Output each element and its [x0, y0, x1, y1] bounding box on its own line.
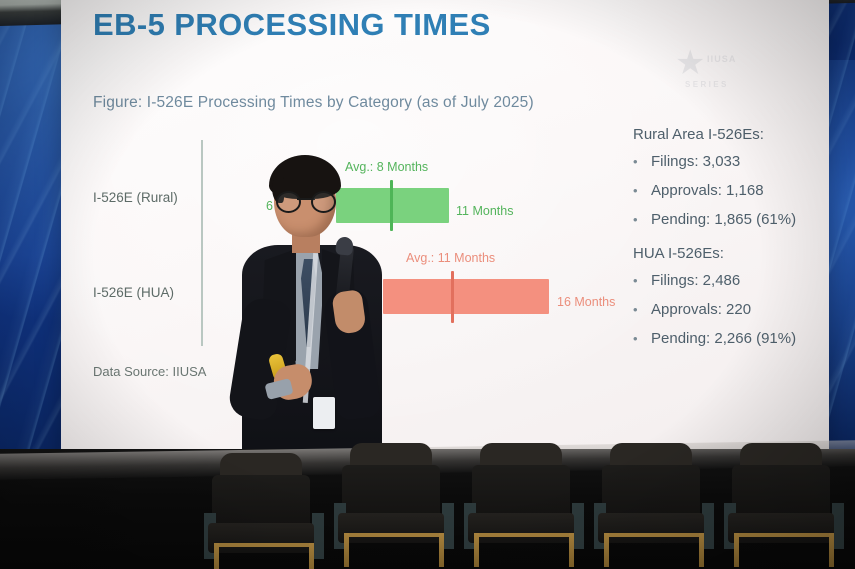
- chart-median-marker-hua: [451, 271, 454, 323]
- processing-times-chart: I-526E (Rural) I-526E (HUA) Avg.: 8 Mont…: [93, 138, 623, 388]
- chair-seat: [468, 513, 574, 543]
- list-item: • Pending: 1,865 (61%): [633, 211, 829, 228]
- list-item: • Filings: 3,033: [633, 153, 829, 170]
- list-item: • Pending: 2,266 (91%): [633, 330, 829, 347]
- chart-bar-hua: [383, 279, 549, 314]
- list-item: • Approvals: 220: [633, 301, 829, 318]
- chair-seat: [728, 513, 834, 543]
- slide-subtitle: Figure: I-526E Processing Times by Categ…: [93, 94, 534, 112]
- stats-value: Filings: 3,033: [651, 153, 740, 170]
- chair-leg-right: [569, 533, 574, 567]
- stats-value: Approvals: 220: [651, 301, 751, 318]
- stats-value: Pending: 1,865 (61%): [651, 211, 796, 228]
- chair-seat: [338, 513, 444, 543]
- chart-category-label-hua: I-526E (HUA): [93, 285, 193, 300]
- stats-value: Filings: 2,486: [651, 272, 740, 289]
- chair-leg-left: [474, 533, 479, 567]
- chair-leg-right: [309, 543, 314, 569]
- list-item: • Filings: 2,486: [633, 272, 829, 289]
- stats-group-rural: Rural Area I-526Es: • Filings: 3,033 • A…: [633, 126, 829, 228]
- chart-high-label-hua: 16 Months: [557, 295, 615, 309]
- chart-low-label-rural: 6 Months: [266, 199, 317, 213]
- presentation-photo: ★ IIUSA SERIES EB-5 PROCESSING TIMES Fig…: [0, 0, 855, 569]
- bullet-icon: •: [633, 332, 651, 345]
- list-item: • Approvals: 1,168: [633, 182, 829, 199]
- bullet-icon: •: [633, 155, 651, 168]
- chart-low-label-hua: Months: [305, 290, 346, 304]
- chart-axis-line: [201, 140, 203, 346]
- chair-seat: [598, 513, 704, 543]
- chair: [206, 447, 322, 569]
- bullet-icon: •: [633, 184, 651, 197]
- chair: [336, 437, 452, 565]
- chair-frame-rail: [214, 543, 314, 547]
- chart-category-label-rural: I-526E (Rural): [93, 190, 193, 205]
- chair-frame-rail: [734, 533, 834, 537]
- chair-frame-rail: [604, 533, 704, 537]
- bullet-icon: •: [633, 274, 651, 287]
- star-icon: ★: [675, 46, 705, 80]
- chair-leg-left: [214, 543, 219, 569]
- chair: [726, 437, 842, 565]
- slide-title: EB-5 PROCESSING TIMES: [93, 7, 491, 43]
- chart-avg-label-rural: Avg.: 8 Months: [345, 160, 428, 174]
- watermark-text: IIUSA: [707, 54, 737, 64]
- stats-heading-hua: HUA I-526Es:: [633, 245, 829, 262]
- chair-leg-right: [699, 533, 704, 567]
- chair-frame-rail: [474, 533, 574, 537]
- chart-median-marker-rural: [390, 180, 393, 231]
- bullet-icon: •: [633, 303, 651, 316]
- chair-leg-right: [439, 533, 444, 567]
- chair: [466, 437, 582, 565]
- chair-frame-rail: [344, 533, 444, 537]
- chair-seat: [208, 523, 314, 553]
- bullet-icon: •: [633, 213, 651, 226]
- chair-leg-left: [734, 533, 739, 567]
- chair-leg-left: [344, 533, 349, 567]
- stats-heading-rural: Rural Area I-526Es:: [633, 126, 829, 143]
- chair: [596, 437, 712, 565]
- stats-group-hua: HUA I-526Es: • Filings: 2,486 • Approval…: [633, 245, 829, 347]
- chair-leg-right: [829, 533, 834, 567]
- stats-value: Approvals: 1,168: [651, 182, 764, 199]
- chart-data-source: Data Source: IIUSA: [93, 364, 206, 379]
- chair-leg-left: [604, 533, 609, 567]
- chart-high-label-rural: 11 Months: [456, 204, 513, 218]
- iiusa-watermark-logo: ★ IIUSA SERIES: [671, 44, 767, 102]
- statistics-panel: Rural Area I-526Es: • Filings: 3,033 • A…: [633, 126, 829, 364]
- chart-avg-label-hua: Avg.: 11 Months: [406, 251, 495, 265]
- chair-row: [0, 409, 855, 569]
- watermark-subtext: SERIES: [685, 80, 729, 89]
- stats-value: Pending: 2,266 (91%): [651, 330, 796, 347]
